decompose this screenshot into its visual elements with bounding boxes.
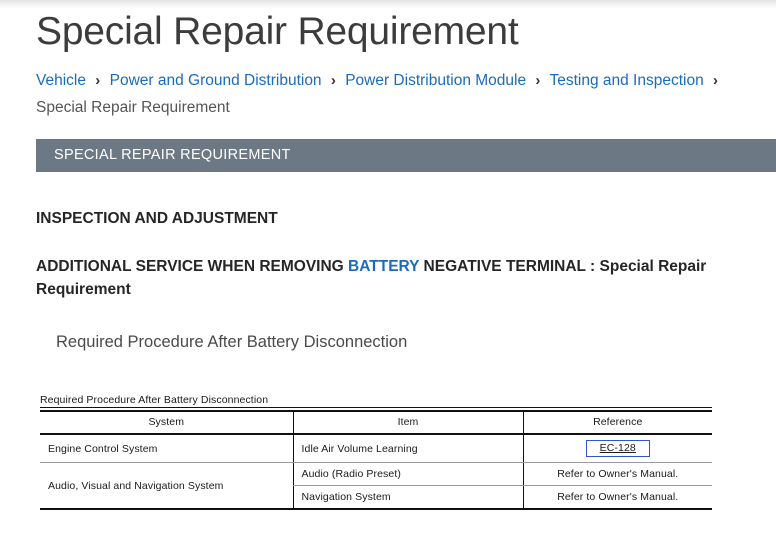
page-content: Special Repair Requirement Vehicle › Pow… <box>0 0 776 510</box>
breadcrumb: Vehicle › Power and Ground Distribution … <box>36 67 776 121</box>
table-row: Engine Control System Idle Air Volume Le… <box>40 434 712 463</box>
breadcrumb-link-testing-and-inspection[interactable]: Testing and Inspection <box>549 72 703 89</box>
cell-item-audio-radio-preset: Audio (Radio Preset) <box>293 463 523 486</box>
breadcrumb-item-testing-and-inspection[interactable]: Testing and Inspection <box>549 72 708 89</box>
required-procedure-table-figure: Required Procedure After Battery Disconn… <box>40 394 712 510</box>
breadcrumb-item-power-and-ground-distribution[interactable]: Power and Ground Distribution <box>110 72 326 89</box>
cell-reference-ec-128: EC-128 <box>523 434 712 463</box>
table-header-reference: Reference <box>523 411 712 434</box>
breadcrumb-item-current: Special Repair Requirement <box>36 99 230 116</box>
breadcrumb-separator-icon: › <box>326 72 341 89</box>
table-header-system: System <box>40 411 293 434</box>
section-header-label: SPECIAL REPAIR REQUIREMENT <box>36 147 291 163</box>
page-title: Special Repair Requirement <box>36 10 776 54</box>
breadcrumb-link-vehicle[interactable]: Vehicle <box>36 72 86 89</box>
document-page: Special Repair Requirement Vehicle › Pow… <box>0 0 776 536</box>
heading-inspection-and-adjustment: INSPECTION AND ADJUSTMENT <box>36 208 776 230</box>
heading-text-before-link: ADDITIONAL SERVICE WHEN REMOVING <box>36 258 348 275</box>
cell-item-navigation-system: Navigation System <box>293 486 523 510</box>
breadcrumb-separator-icon: › <box>530 72 545 89</box>
table-row: Audio, Visual and Navigation System Audi… <box>40 463 712 486</box>
breadcrumb-link-power-distribution-module[interactable]: Power Distribution Module <box>345 72 526 89</box>
required-procedure-table: System Item Reference Engine Control Sys… <box>40 410 712 510</box>
cell-item-idle-air-volume-learning: Idle Air Volume Learning <box>293 434 523 463</box>
section-header-band: SPECIAL REPAIR REQUIREMENT <box>36 139 776 172</box>
cell-system-engine-control-system: Engine Control System <box>40 434 293 463</box>
cell-reference-owners-manual: Refer to Owner's Manual. <box>523 463 712 486</box>
heading-additional-service: ADDITIONAL SERVICE WHEN REMOVING BATTERY… <box>36 256 756 301</box>
table-header-item: Item <box>293 411 523 434</box>
breadcrumb-link-power-and-ground-distribution[interactable]: Power and Ground Distribution <box>110 72 322 89</box>
reference-link-focus-box[interactable]: EC-128 <box>586 440 650 457</box>
sub-heading-required-procedure: Required Procedure After Battery Disconn… <box>56 333 776 352</box>
breadcrumb-separator-icon: › <box>708 72 723 89</box>
table-header-row: System Item Reference <box>40 411 712 434</box>
cell-reference-owners-manual: Refer to Owner's Manual. <box>523 486 712 510</box>
breadcrumb-item-vehicle[interactable]: Vehicle <box>36 72 90 89</box>
battery-link[interactable]: BATTERY <box>348 258 419 275</box>
cell-system-audio-visual-and-navigation-system: Audio, Visual and Navigation System <box>40 463 293 510</box>
table-caption: Required Procedure After Battery Disconn… <box>40 394 712 408</box>
breadcrumb-item-power-distribution-module[interactable]: Power Distribution Module <box>345 72 530 89</box>
reference-link-ec-128[interactable]: EC-128 <box>600 442 636 454</box>
breadcrumb-separator-icon: › <box>90 72 105 89</box>
